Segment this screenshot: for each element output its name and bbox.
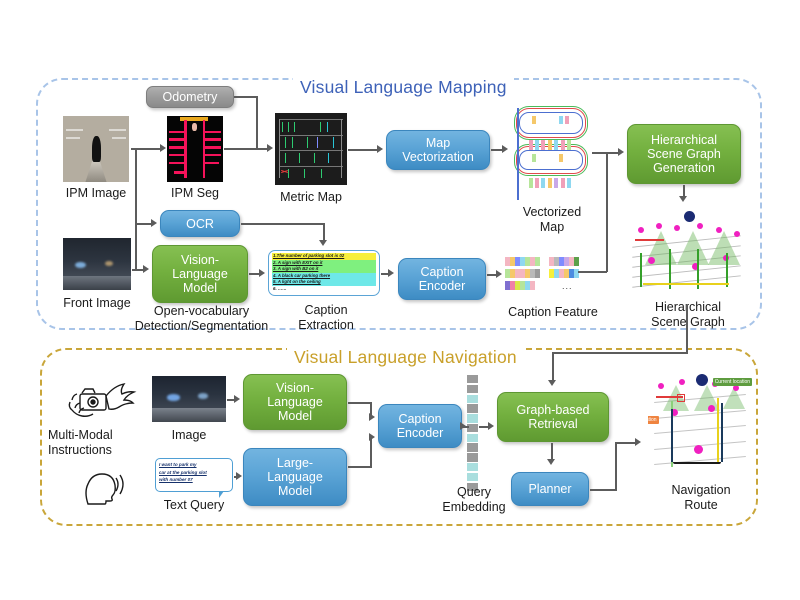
connector — [552, 352, 554, 381]
arrow-icon — [496, 270, 502, 278]
hierarchical-scene-graph-generation-box[interactable]: Hierarchical Scene Graph Generation — [627, 124, 741, 184]
vlm1-label-2: Language — [172, 267, 228, 281]
caption-encoder1-label-1: Caption — [420, 265, 463, 279]
arrow-icon — [319, 240, 327, 246]
arrow-icon — [143, 265, 149, 273]
vision-language-model-box-mapping[interactable]: Vision- Language Model — [152, 245, 248, 303]
vlm2-label-3: Model — [278, 409, 312, 423]
caption-line: 3. A sign with B2 on it — [272, 266, 376, 273]
arrow-icon — [488, 422, 494, 430]
ipm-image-thumbnail — [63, 116, 129, 182]
query-embedding-strip — [467, 375, 478, 492]
caption-line: 5. A light on the ceiling — [272, 279, 376, 286]
connector — [606, 152, 608, 272]
caption-multimodal-instructions: Multi-Modal Instructions — [48, 428, 156, 458]
caption-navigation-route: Navigation Route — [648, 483, 754, 513]
arrow-icon — [267, 144, 273, 152]
connector — [348, 402, 372, 404]
llm-label-1: Large- — [277, 456, 313, 470]
ipm-seg-thumbnail — [167, 116, 223, 182]
caption-text-query: Text Query — [150, 498, 238, 513]
caption-vectorized-map: Vectorized Map — [508, 205, 596, 235]
caption-feature-ellipsis: ... — [562, 281, 573, 291]
connector — [135, 223, 152, 225]
caption-metric-map: Metric Map — [270, 190, 352, 205]
caption-hierarchical-scene-graph: Hierarchical Scene Graph — [625, 300, 751, 330]
metric-map-thumbnail — [275, 113, 347, 185]
planner-label: Planner — [528, 482, 571, 496]
arrow-icon — [635, 438, 641, 446]
map-vectorization-label-1: Map — [426, 136, 450, 150]
section-title-mapping: Visual Language Mapping — [293, 77, 514, 98]
target-location-line-2: location — [648, 417, 657, 423]
vectorized-map-thumbnail — [511, 106, 591, 206]
caption-encoder2-label-1: Caption — [398, 412, 441, 426]
arrow-icon — [259, 269, 265, 277]
connector — [590, 489, 617, 491]
caption-line: 1.The number of parking slot is 02 — [272, 253, 376, 260]
graph-based-retrieval-box[interactable]: Graph-based Retrieval — [497, 392, 609, 442]
caption-caption-feature: Caption Feature — [494, 305, 612, 320]
arrow-icon — [369, 413, 375, 421]
vlm1-label-1: Vision- — [181, 253, 219, 267]
figure-canvas: Visual Language Mapping Visual Language … — [0, 0, 800, 600]
connector — [234, 96, 257, 98]
arrow-icon — [388, 269, 394, 277]
connector — [241, 223, 325, 225]
caption-encoder1-label-2: Encoder — [419, 279, 466, 293]
vision-language-model-box-navigation[interactable]: Vision- Language Model — [243, 374, 347, 430]
odometry-box[interactable]: Odometry — [146, 86, 234, 108]
odometry-label: Odometry — [163, 90, 218, 104]
arrow-icon — [236, 472, 242, 480]
connector — [615, 442, 617, 490]
target-location-tag: Target location — [648, 416, 659, 424]
current-location-line-2: location — [733, 379, 750, 385]
vlm1-label-3: Model — [183, 281, 217, 295]
llm-label-3: Model — [278, 484, 312, 498]
arrow-icon — [548, 380, 556, 386]
text-query-bubble: I want to park my car at the parking slo… — [155, 458, 233, 492]
caption-encoder2-label-2: Encoder — [397, 426, 444, 440]
arrow-icon — [369, 433, 375, 441]
front-image-thumbnail — [63, 238, 131, 290]
navigation-image-thumbnail — [152, 376, 226, 422]
text-query-line: with number 07 — [159, 476, 229, 484]
caption-encoder-box-navigation[interactable]: Caption Encoder — [378, 404, 462, 448]
text-query-line: I want to park my — [159, 461, 229, 469]
large-language-model-box[interactable]: Large- Language Model — [243, 448, 347, 506]
caption-query-embedding: Query Embedding — [438, 485, 510, 515]
retrieval-label-1: Graph-based — [517, 403, 590, 417]
map-vectorization-label-2: Vectorization — [402, 150, 474, 164]
connector — [323, 223, 325, 241]
caption-image: Image — [152, 428, 226, 443]
hsgg-label-2: Scene Graph — [647, 147, 721, 161]
vlm2-label-2: Language — [267, 395, 323, 409]
hsgg-label-3: Generation — [653, 161, 715, 175]
hsgg-label-1: Hierarchical — [651, 133, 717, 147]
connector — [348, 149, 378, 151]
arrow-icon — [234, 395, 240, 403]
section-title-navigation: Visual Language Navigation — [287, 347, 524, 368]
caption-line: 2. A sign with EXIT on it — [272, 260, 376, 267]
connector — [256, 96, 258, 149]
connector — [578, 271, 607, 273]
connector — [615, 442, 637, 444]
navigation-route-thumbnail: Current location Target location — [648, 372, 752, 482]
connector — [348, 466, 372, 468]
arrow-icon — [460, 422, 466, 430]
caption-caption-extraction: Caption Extraction — [288, 303, 364, 333]
arrow-icon — [618, 148, 624, 156]
llm-label-2: Language — [267, 470, 323, 484]
speaking-head-icon — [78, 462, 128, 506]
caption-ipm-seg: IPM Seg — [158, 186, 232, 201]
arrow-icon — [151, 219, 157, 227]
connector — [552, 352, 688, 354]
speech-tail-icon — [219, 491, 224, 498]
connector — [370, 437, 372, 467]
current-location-tag: Current location — [713, 378, 752, 386]
arrow-icon — [502, 145, 508, 153]
caption-extraction-box: 1.The number of parking slot is 02 2. A … — [268, 250, 380, 296]
retrieval-label-2: Retrieval — [528, 417, 577, 431]
caption-ipm-image: IPM Image — [55, 186, 137, 201]
ocr-label: OCR — [186, 217, 214, 231]
camera-gesture-icon — [62, 378, 138, 426]
vlm2-label-1: Vision- — [276, 381, 314, 395]
caption-line: 6. …… — [272, 286, 376, 293]
connector — [686, 305, 688, 353]
planner-box[interactable]: Planner — [511, 472, 589, 506]
current-location-line-1: Current — [715, 379, 732, 385]
arrow-icon — [377, 145, 383, 153]
map-vectorization-box[interactable]: Map Vectorization — [386, 130, 490, 170]
hierarchical-scene-graph-thumbnail — [622, 205, 752, 305]
caption-encoder-box-mapping[interactable]: Caption Encoder — [398, 258, 486, 300]
caption-line: 4. A black car parking there — [272, 273, 376, 280]
connector — [224, 148, 269, 150]
caption-feature-swatches: ... — [505, 257, 601, 293]
ocr-box[interactable]: OCR — [160, 210, 240, 237]
caption-open-vocabulary: Open-vocabulary Detection/Segmentation — [124, 304, 279, 334]
arrow-icon — [547, 459, 555, 465]
connector — [135, 148, 137, 270]
text-query-line: car at the parking slot — [159, 469, 229, 477]
arrow-icon — [679, 196, 687, 202]
arrow-icon — [160, 144, 166, 152]
